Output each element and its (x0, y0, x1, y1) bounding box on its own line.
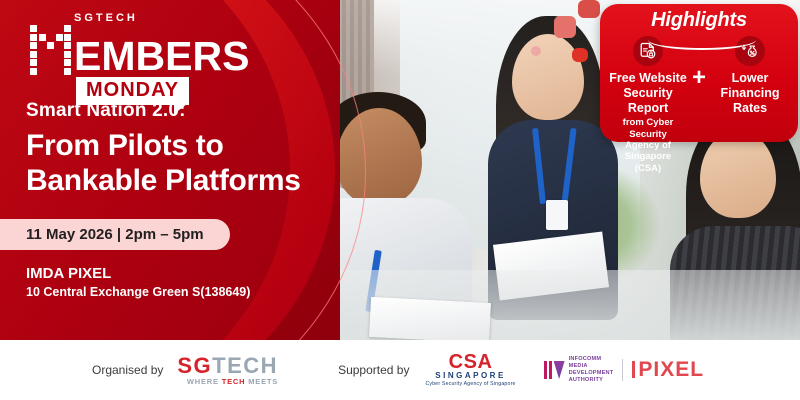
event-headline-line-2: Bankable Platforms (26, 163, 326, 198)
photo-person-2-head (336, 108, 422, 206)
photo-person-3-head (512, 34, 584, 120)
imda-line-2: MEDIA (569, 363, 614, 370)
imda-line-1: INFOCOMM (569, 356, 614, 363)
decor-square-4 (531, 46, 541, 56)
highlight-1-sub: from Cyber Security Agency of Singapore … (606, 117, 690, 174)
logo-sgtech-label: SGTECH (74, 12, 249, 24)
supported-by-label: Supported by (338, 363, 409, 377)
highlight-2-main-line-3: Rates (708, 101, 792, 116)
highlight-2-main-line-1: Lower (708, 71, 792, 86)
imda-mark-icon (544, 361, 565, 379)
logo-embers-word: EMBERS (74, 39, 249, 74)
event-venue-address: 10 Central Exchange Green S(138649) (26, 285, 250, 299)
event-datetime-text: 11 May 2026 | 2pm – 5pm (26, 226, 204, 243)
members-monday-logo: SGTECH EMBERS MONDAY (30, 12, 249, 105)
highlight-2-main-line-2: Financing (708, 86, 792, 101)
decor-square-3 (572, 48, 588, 62)
highlights-swoosh-icon (648, 30, 756, 50)
organised-by-group: Organised by SGTECH WHERE TECH MEETS (92, 355, 278, 386)
imda-v-shape (554, 361, 565, 379)
decor-square-1 (554, 16, 576, 38)
organised-by-label: Organised by (92, 363, 163, 377)
highlight-1-main: Free Website Security Report (606, 71, 690, 115)
highlight-1-sub-line-1: from Cyber Security (606, 117, 690, 140)
imda-wordmark: INFOCOMM MEDIA DEVELOPMENT AUTHORITY (569, 356, 614, 384)
pixel-accent-bar (632, 361, 635, 378)
sgtech-sg-part: SG (177, 353, 212, 378)
imda-line-3: DEVELOPMENT (569, 370, 614, 377)
decor-square-2 (578, 0, 600, 18)
footer-bar: Organised by SGTECH WHERE TECH MEETS Sup… (0, 340, 800, 400)
event-eyebrow: Smart Nation 2.0: (26, 100, 326, 122)
csa-logo: CSA SINGAPORE Cyber Security Agency of S… (425, 352, 515, 387)
logo-divider (622, 359, 623, 381)
highlights-columns: Free Website Security Report from Cyber … (600, 32, 798, 174)
sgtech-tagline-part-1: WHERE (187, 377, 222, 386)
supported-by-group: Supported by CSA SINGAPORE Cyber Securit… (338, 352, 704, 387)
event-venue-block: IMDA PIXEL 10 Central Exchange Green S(1… (26, 265, 250, 299)
imda-pixel-logo: INFOCOMM MEDIA DEVELOPMENT AUTHORITY PIX… (544, 356, 704, 384)
imda-line-4: AUTHORITY (569, 377, 614, 384)
highlights-panel: Highlights Free Website Security R (600, 4, 798, 142)
event-venue-name: IMDA PIXEL (26, 265, 250, 282)
sgtech-tech-part: TECH (212, 353, 278, 378)
event-headline: From Pilots to Bankable Platforms (26, 128, 326, 198)
sgtech-tagline-part-2: TECH (222, 377, 249, 386)
imda-bar-2 (549, 361, 553, 379)
sgtech-logo: SGTECH WHERE TECH MEETS (177, 355, 278, 386)
csa-wordmark: CSA (425, 352, 515, 372)
pixel-wordmark: PIXEL (632, 358, 704, 382)
event-headline-line-1: From Pilots to (26, 128, 326, 163)
highlights-title: Highlights (600, 4, 798, 32)
highlight-1-main-line-2: Security Report (606, 86, 690, 116)
event-title-block: Smart Nation 2.0: From Pilots to Bankabl… (26, 100, 326, 198)
sgtech-wordmark: SGTECH (177, 355, 278, 377)
highlight-1-main-line-1: Free Website (606, 71, 690, 86)
highlight-1-sub-line-2: Agency of Singapore (606, 140, 690, 163)
pixel-word-text: PIXEL (638, 358, 704, 381)
csa-tagline: Cyber Security Agency of Singapore (425, 382, 515, 387)
imda-bar-1 (544, 361, 548, 379)
photo-badge-3 (546, 200, 568, 230)
csa-country: SINGAPORE (425, 372, 515, 380)
pixel-m-icon (30, 25, 71, 75)
highlight-1-sub-line-3: (CSA) (606, 163, 690, 174)
highlight-2-main: Lower Financing Rates (708, 71, 792, 115)
event-banner: SGTECH EMBERS MONDAY Smart Nation 2.0: F… (0, 0, 800, 400)
photo-laptop (369, 297, 491, 340)
event-datetime-pill: 11 May 2026 | 2pm – 5pm (0, 219, 230, 250)
logo-main-row: EMBERS (30, 25, 249, 75)
highlight-item-1: Free Website Security Report from Cyber … (606, 36, 690, 174)
sgtech-tagline-part-3: MEETS (248, 377, 278, 386)
sgtech-tagline: WHERE TECH MEETS (177, 378, 278, 386)
